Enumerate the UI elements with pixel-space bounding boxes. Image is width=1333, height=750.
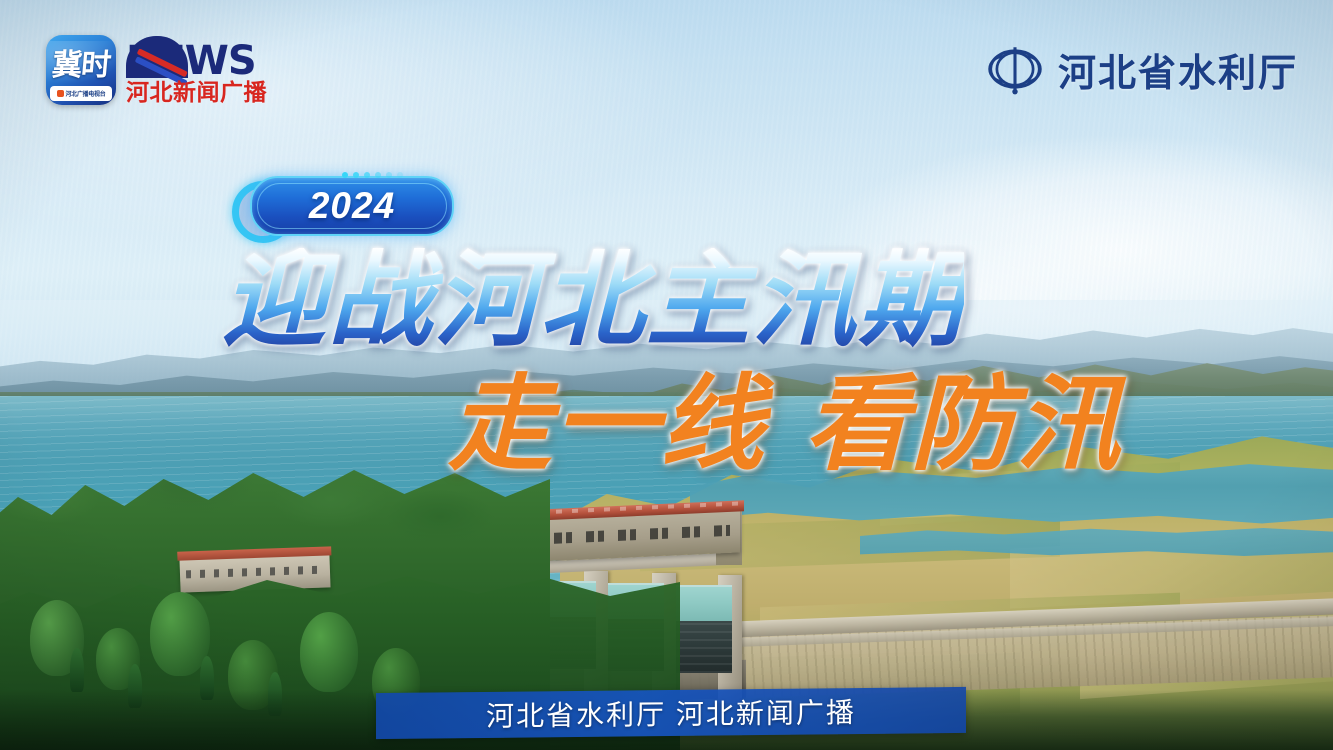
badge-dots-icon [342, 172, 403, 178]
jishi-app-strip-label: 河北广播电视台 [66, 89, 106, 98]
jishi-app-strip: 河北广播电视台 [50, 86, 112, 101]
headline-sub: 走一线 看防汛 [448, 372, 1122, 476]
poster-canvas: 冀时 河北广播电视台 NEWS 河北新闻广播 河北省水利厅 [0, 0, 1333, 750]
footer-credits: 河北省水利厅 河北新闻广播 [376, 687, 966, 739]
broadcast-dot-icon [57, 90, 64, 97]
headline-main: 迎战河北主汛期 [222, 248, 964, 352]
jishi-app-glyph: 冀时 [51, 51, 112, 81]
badge-year-label: 2024 [309, 185, 395, 227]
